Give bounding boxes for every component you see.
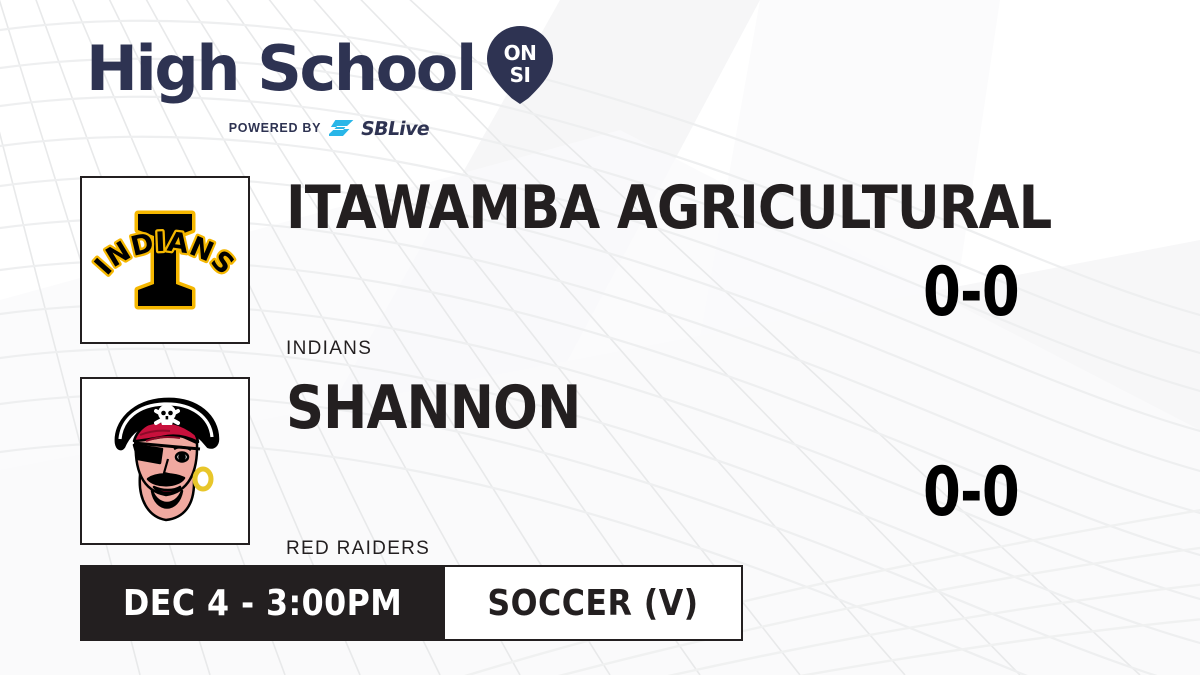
- brand-title: High School: [86, 38, 475, 100]
- onsi-badge-line2: SI: [509, 63, 530, 87]
- team-2-record: 0-0: [923, 459, 1019, 527]
- itawamba-indians-logo: INDIANS: [90, 186, 240, 334]
- game-datetime-chip: DEC 4 - 3:00PM: [80, 565, 445, 641]
- game-info-bar: DEC 4 - 3:00PM SOCCER (V): [80, 565, 743, 641]
- team-2-logo-box: [80, 377, 250, 545]
- sblive-wordmark: SBLive: [359, 117, 432, 139]
- team-2-mascot: RED RAIDERS: [286, 538, 430, 560]
- powered-by-row: POWERED BY SBLive: [110, 117, 553, 139]
- onsi-badge: ON SI: [487, 26, 553, 109]
- team-1-logo-box: INDIANS: [80, 176, 250, 344]
- team-1-name: ITAWAMBA AGRICULTURAL: [286, 178, 1051, 238]
- team-2-name: SHANNON: [286, 378, 580, 438]
- shannon-red-raiders-logo: [90, 387, 240, 535]
- game-sport-chip: SOCCER (V): [445, 565, 743, 641]
- brand-header: High School ON SI POWERED BY SBLive: [86, 28, 553, 139]
- sblive-logo: SBLive: [329, 117, 434, 139]
- game-sport-text: SOCCER (V): [488, 583, 699, 624]
- team-1-mascot: INDIANS: [286, 338, 372, 360]
- game-datetime-text: DEC 4 - 3:00PM: [123, 583, 402, 624]
- powered-by-label: POWERED BY: [229, 121, 321, 135]
- onsi-badge-line1: ON: [503, 41, 536, 65]
- team-1-record: 0-0: [923, 259, 1019, 327]
